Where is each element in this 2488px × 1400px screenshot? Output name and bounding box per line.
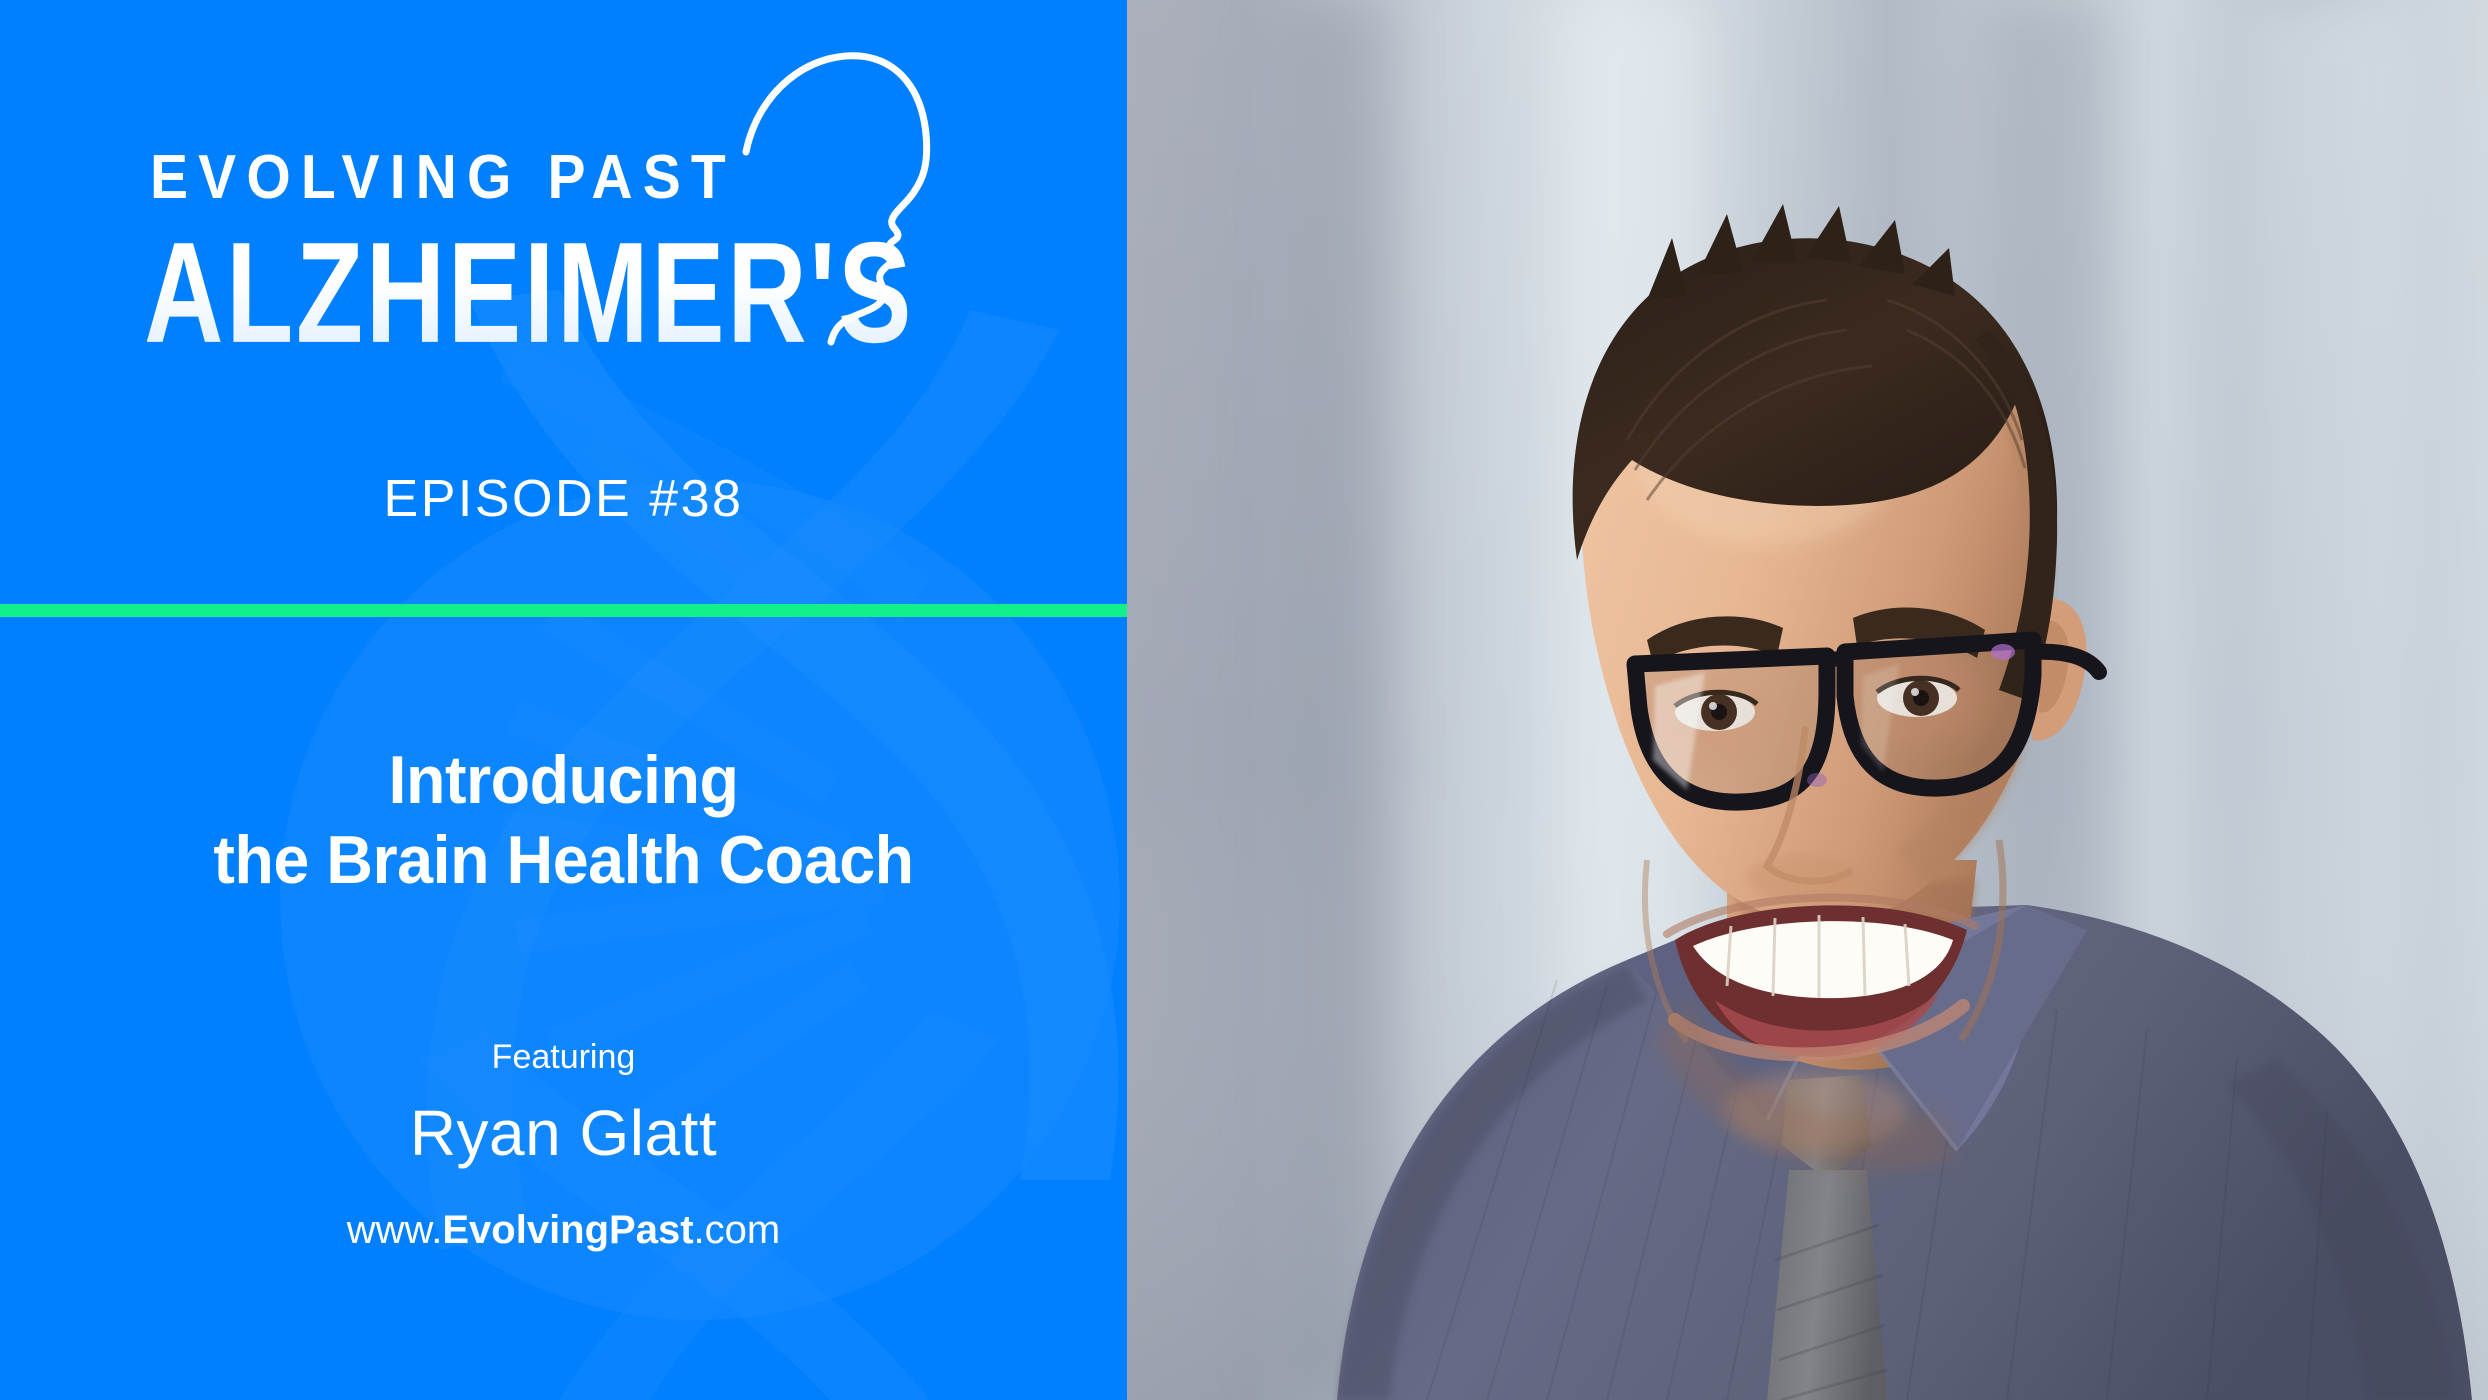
website-url-suffix: .com [694, 1208, 781, 1252]
website-url[interactable]: www.EvolvingPast.com [0, 1208, 1127, 1253]
blue-info-panel: EVOLVING PAST ALZHEIMER'S EPISODE #38 In… [0, 0, 1127, 1400]
featuring-label: Featuring [0, 1038, 1127, 1077]
green-divider [0, 604, 1127, 617]
episode-title: Introducing the Brain Health Coach [0, 740, 1127, 900]
website-url-prefix: www. [347, 1208, 443, 1252]
head-profile-icon [700, 30, 940, 380]
guest-name: Ryan Glatt [0, 1096, 1127, 1170]
episode-title-line-1: Introducing [28, 740, 1099, 820]
episode-title-line-2: the Brain Health Coach [28, 820, 1099, 900]
logo-line-evolving-past: EVOLVING PAST [150, 147, 736, 209]
episode-number: EPISODE #38 [0, 469, 1127, 529]
guest-portrait-photo [1127, 0, 2488, 1400]
website-url-brand: EvolvingPast [442, 1208, 693, 1252]
episode-cover-graphic: EVOLVING PAST ALZHEIMER'S EPISODE #38 In… [0, 0, 2488, 1400]
